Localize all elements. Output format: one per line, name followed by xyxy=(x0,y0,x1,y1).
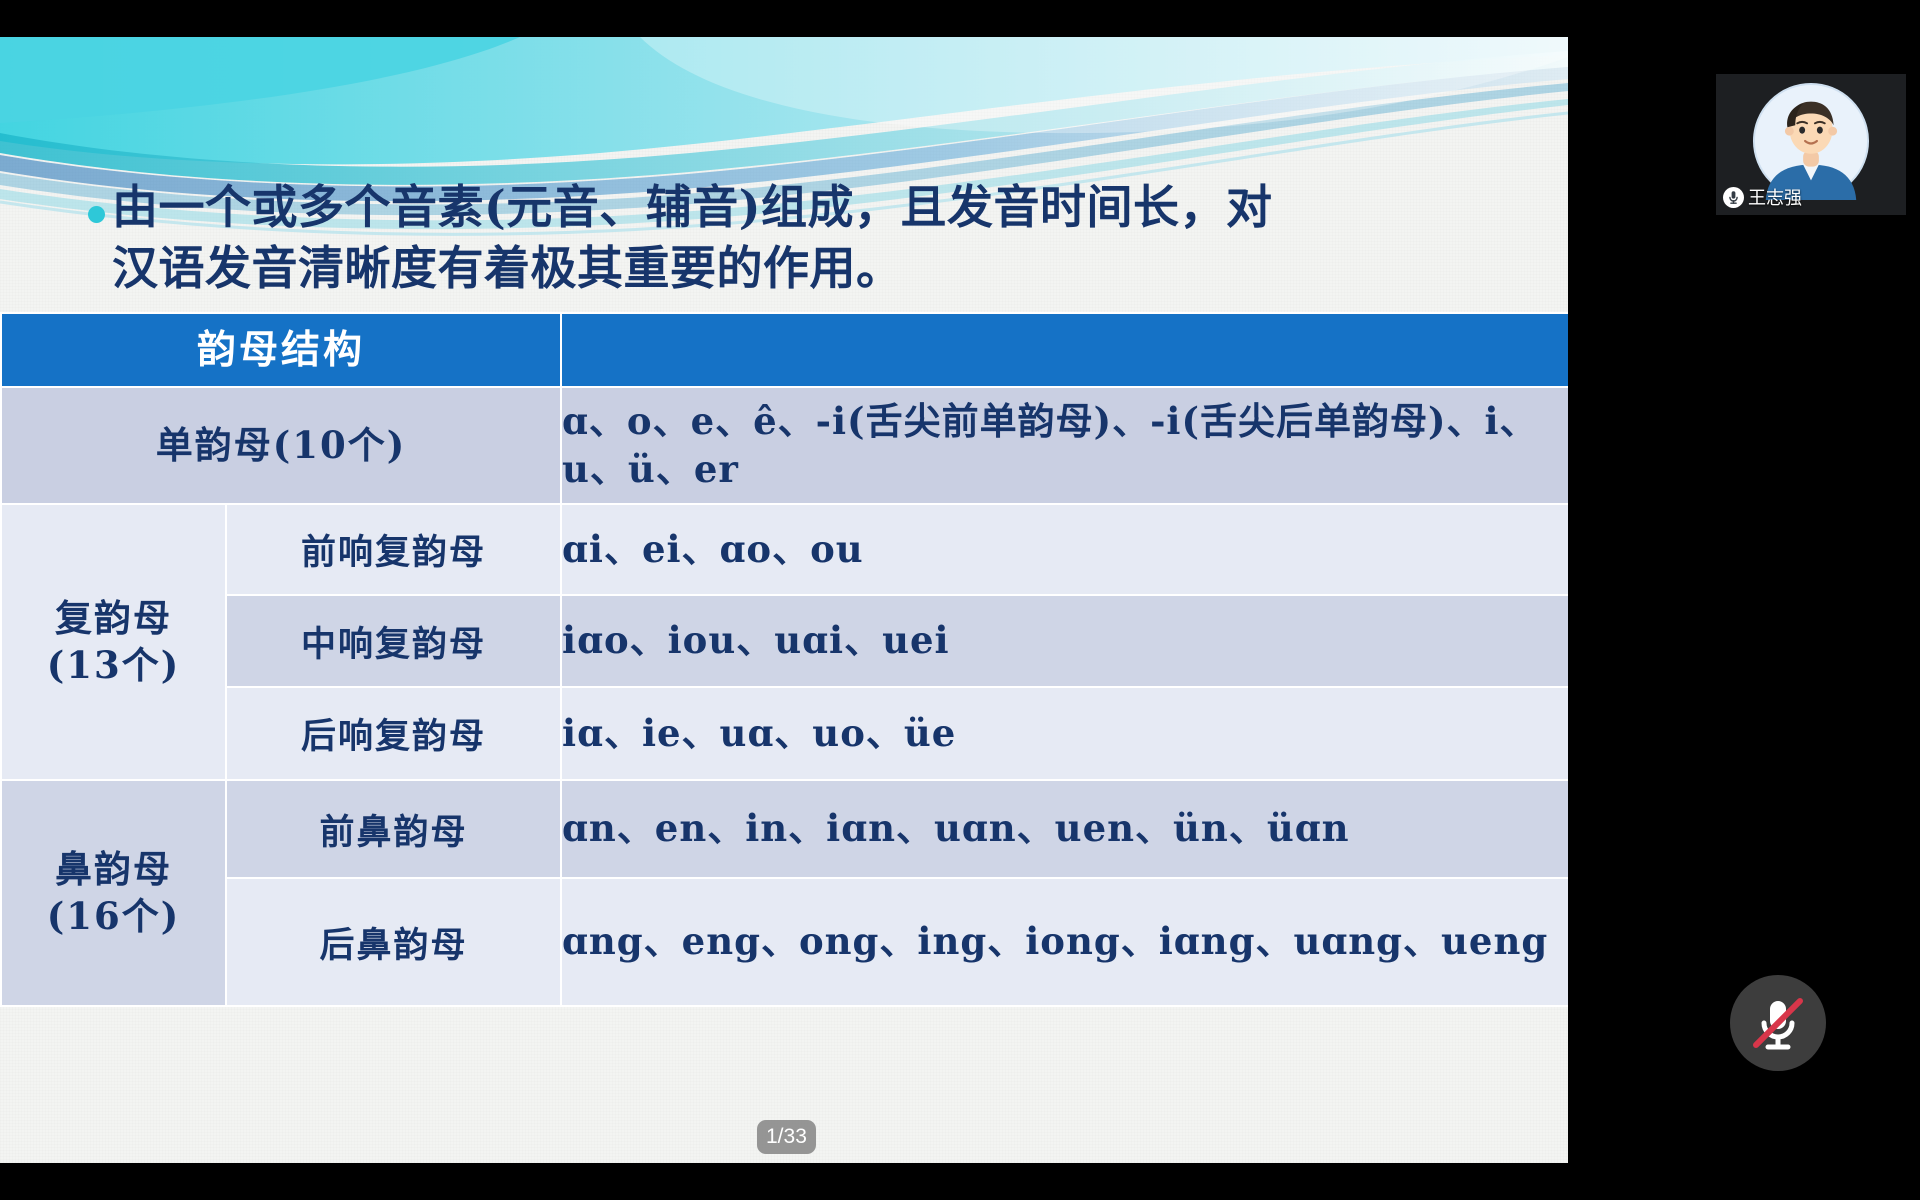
table-header-cell-examples xyxy=(561,313,1568,387)
group-label-line-1: 鼻韵母 xyxy=(55,847,172,891)
table-row: 后响复韵母 iɑ、ie、uɑ、uo、üe xyxy=(1,687,1568,780)
screen: 由一个或多个音素(元音、辅音)组成，且发音时间长，对 汉语发音清晰度有着极其重要… xyxy=(0,0,1920,1200)
page-indicator-badge: 1/33 xyxy=(757,1120,816,1154)
group-label-line-2: (16个) xyxy=(2,893,225,940)
row-group-label-nasal-finals: 鼻韵母 (16个) xyxy=(1,780,226,1006)
mute-toggle-button[interactable] xyxy=(1730,975,1826,1071)
table-row: 复韵母 (13个) 前响复韵母 ɑi、ei、ɑo、ou xyxy=(1,504,1568,595)
table-row: 后鼻韵母 ɑng、eng、ong、ing、iong、iɑng、uɑng、ueng xyxy=(1,878,1568,1006)
row-content-mid-loud: iɑo、iou、uɑi、uei xyxy=(561,595,1568,687)
row-subtype-label-mid-loud: 中响复韵母 xyxy=(226,595,561,687)
slide-bullet-paragraph: 由一个或多个音素(元音、辅音)组成，且发音时间长，对 汉语发音清晰度有着极其重要… xyxy=(88,177,1548,298)
table-row: 鼻韵母 (16个) 前鼻韵母 ɑn、en、in、iɑn、uɑn、uen、ün、ü… xyxy=(1,780,1568,878)
row-subtype-label-back-loud: 后响复韵母 xyxy=(226,687,561,780)
participant-name: 王志强 xyxy=(1748,184,1802,210)
table-header-cell-structure: 韵母结构 xyxy=(1,313,561,387)
avatar xyxy=(1752,82,1870,200)
bullet-line-2: 汉语发音清晰度有着极其重要的作用。 xyxy=(112,238,1273,299)
table-row: 中响复韵母 iɑo、iou、uɑi、uei xyxy=(1,595,1568,687)
row-content-back-loud: iɑ、ie、uɑ、uo、üe xyxy=(561,687,1568,780)
row-content-front-nasal: ɑn、en、in、iɑn、uɑn、uen、ün、üɑn xyxy=(561,780,1568,878)
table-header-label-structure: 韵母结构 xyxy=(2,314,560,386)
microphone-muted-icon xyxy=(1730,975,1826,1071)
bullet-line-1: 由一个或多个音素(元音、辅音)组成，且发音时间长，对 xyxy=(112,180,1273,234)
group-label-line-1: 复韵母 xyxy=(55,596,172,640)
finals-structure-table: 韵母结构 单韵母(10个) ɑ、o、e、ê、-i(舌尖前单韵母)、-i(舌尖后单… xyxy=(0,312,1568,1007)
row-group-label-compound-finals: 复韵母 (13个) xyxy=(1,504,226,780)
bullet-row: 由一个或多个音素(元音、辅音)组成，且发音时间长，对 汉语发音清晰度有着极其重要… xyxy=(88,177,1548,298)
table-row: 单韵母(10个) ɑ、o、e、ê、-i(舌尖前单韵母)、-i(舌尖后单韵母)、i… xyxy=(1,387,1568,504)
row-subtype-label-front-loud: 前响复韵母 xyxy=(226,504,561,595)
self-view-camera-tile[interactable]: 王志强 xyxy=(1716,74,1906,215)
table-header-row: 韵母结构 xyxy=(1,313,1568,387)
row-subtype-label-back-nasal: 后鼻韵母 xyxy=(226,878,561,1006)
presentation-slide: 由一个或多个音素(元音、辅音)组成，且发音时间长，对 汉语发音清晰度有着极其重要… xyxy=(0,37,1568,1163)
participant-nameplate: 王志强 xyxy=(1721,184,1807,210)
row-subtype-label-front-nasal: 前鼻韵母 xyxy=(226,780,561,878)
row-content-front-loud: ɑi、ei、ɑo、ou xyxy=(561,504,1568,595)
microphone-icon xyxy=(1723,187,1744,208)
row-group-label-simple-finals: 单韵母(10个) xyxy=(1,387,561,504)
group-label-line-2: (13个) xyxy=(2,642,225,689)
microphone-glyph xyxy=(1723,187,1744,208)
row-content-simple-finals: ɑ、o、e、ê、-i(舌尖前单韵母)、-i(舌尖后单韵母)、i、u、ü、er xyxy=(561,387,1568,504)
bullet-text: 由一个或多个音素(元音、辅音)组成，且发音时间长，对 汉语发音清晰度有着极其重要… xyxy=(112,177,1273,298)
row-content-back-nasal: ɑng、eng、ong、ing、iong、iɑng、uɑng、ueng xyxy=(561,878,1568,1006)
bullet-dot-icon xyxy=(88,206,105,223)
